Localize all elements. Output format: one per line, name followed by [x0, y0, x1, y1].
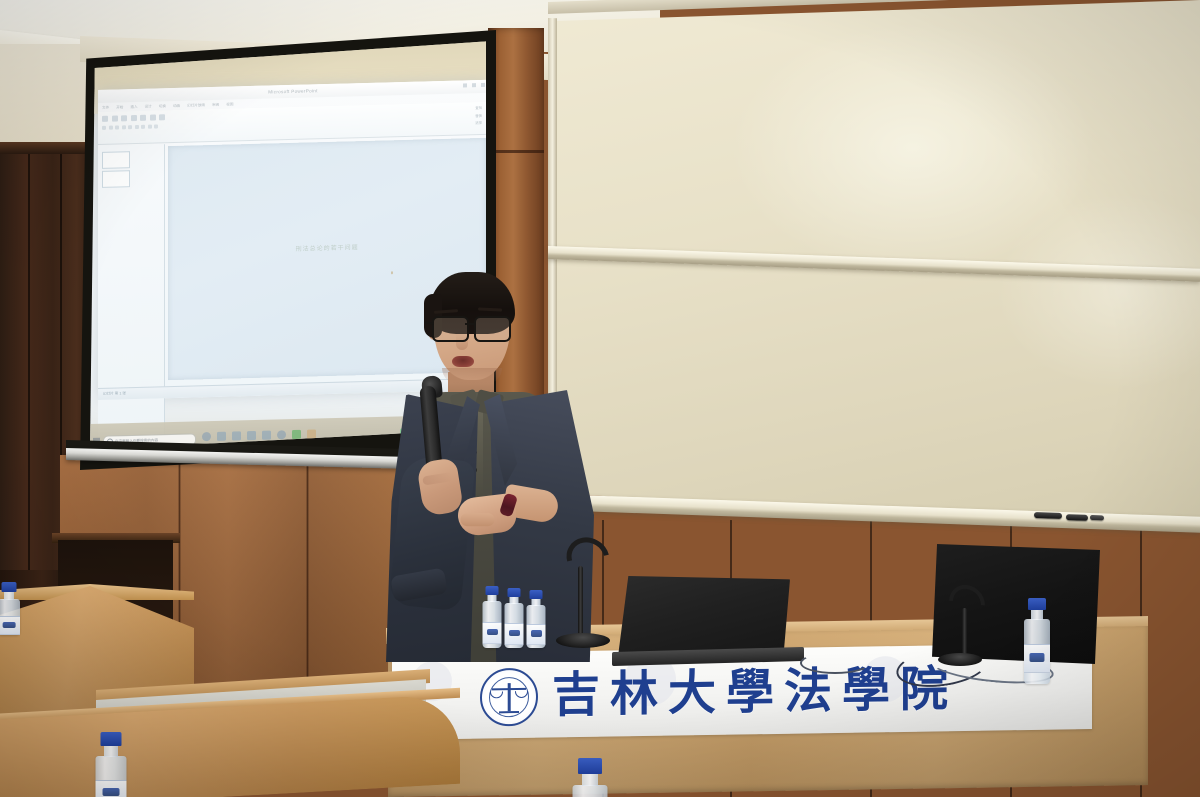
ribbon-tab-7[interactable]: 审阅 [212, 102, 219, 107]
ribbon-tab-1[interactable]: 开始 [116, 105, 123, 110]
maximize-icon[interactable] [472, 83, 476, 87]
bottle-foreground-left[interactable] [93, 732, 129, 797]
align-left-icon[interactable] [135, 125, 139, 129]
paragraph-icon[interactable] [131, 115, 137, 121]
pillar-seam [488, 150, 544, 153]
ribbon-tab-8[interactable]: 视图 [226, 102, 233, 107]
ribbon-tab-5[interactable]: 动画 [173, 103, 180, 108]
ribbon-tab-4[interactable]: 切换 [159, 104, 166, 109]
bottle-foreground-center[interactable] [570, 758, 610, 797]
excel-icon[interactable] [292, 430, 301, 439]
ribbon-icon-group[interactable] [102, 114, 165, 122]
ribbon-tab-0[interactable]: 文件 [102, 105, 109, 110]
ribbon-editing-group[interactable]: 查找 替换 选择 [475, 105, 482, 125]
bold-icon[interactable] [102, 126, 106, 130]
slide-title-text: 刑法总论的若干问题 [168, 238, 486, 255]
italic-icon[interactable] [109, 126, 113, 130]
gooseneck-mic-stem [578, 566, 583, 638]
law-school-emblem-icon [480, 668, 538, 727]
find-label[interactable]: 查找 [475, 105, 482, 110]
numbering-icon[interactable] [154, 124, 158, 128]
cable-laptop [800, 652, 870, 674]
gooseneck-mic-center[interactable] [556, 556, 612, 648]
whiteboard-eraser[interactable] [1090, 515, 1104, 520]
bottle-podium-left-3[interactable] [525, 590, 547, 648]
window-title: Microsoft PowerPoint [268, 88, 317, 94]
lens-right [474, 316, 511, 342]
bottle-podium-right[interactable] [1022, 598, 1052, 684]
eyeglasses [430, 316, 516, 338]
text-color-icon[interactable] [128, 125, 132, 129]
ribbon-tab-2[interactable]: 插入 [130, 104, 137, 109]
ribbon-tab-3[interactable]: 设计 [145, 104, 152, 109]
taskview-icon[interactable] [217, 432, 226, 441]
mail-icon[interactable] [262, 431, 271, 440]
glasses-bridge [465, 323, 474, 325]
cortana-icon[interactable] [202, 432, 211, 441]
underline-icon[interactable] [115, 125, 119, 129]
whiteboard-marker-1[interactable] [1034, 512, 1062, 519]
bottle-foreground-far-left[interactable] [0, 582, 22, 634]
chat-icon[interactable] [277, 430, 286, 439]
explorer-icon[interactable] [232, 431, 241, 440]
strikethrough-icon[interactable] [122, 125, 126, 129]
whiteboard-marker-2[interactable] [1066, 514, 1088, 521]
window-controls[interactable] [463, 83, 485, 88]
gooseneck-mic-base [556, 633, 610, 648]
font-icon[interactable] [121, 115, 127, 121]
bottle-podium-left-2[interactable] [503, 588, 525, 648]
lecture-hall-photo: Microsoft PowerPoint 文件 开始 插入 设计 切换 动画 幻… [0, 0, 1200, 797]
powerpoint-icon[interactable] [307, 429, 316, 438]
shapes-icon[interactable] [140, 115, 146, 121]
quickstyles-icon[interactable] [159, 114, 165, 120]
browser-icon[interactable] [247, 431, 256, 440]
ribbon-secondary-row[interactable] [102, 124, 158, 129]
paste-icon[interactable] [102, 116, 108, 122]
new-slide-icon[interactable] [112, 115, 118, 121]
replace-label[interactable]: 替换 [475, 112, 482, 117]
lens-left [432, 316, 469, 342]
mouth [452, 356, 474, 367]
slide-thumbnail-1[interactable] [102, 151, 130, 169]
close-icon[interactable] [481, 83, 485, 87]
slide-thumbnail-panel[interactable] [98, 144, 165, 454]
arrange-icon[interactable] [150, 114, 156, 120]
select-label[interactable]: 选择 [475, 120, 482, 125]
minimize-icon[interactable] [463, 83, 467, 87]
bottle-podium-left-1[interactable] [481, 586, 503, 648]
slide-thumbnail-2[interactable] [102, 170, 130, 188]
slide-number-label: 幻灯片 第 1 张 [103, 391, 126, 397]
bullets-icon[interactable] [148, 125, 152, 129]
ribbon-tab-6[interactable]: 幻灯片放映 [187, 103, 205, 108]
chin-shadow [442, 368, 502, 384]
align-center-icon[interactable] [141, 125, 145, 129]
